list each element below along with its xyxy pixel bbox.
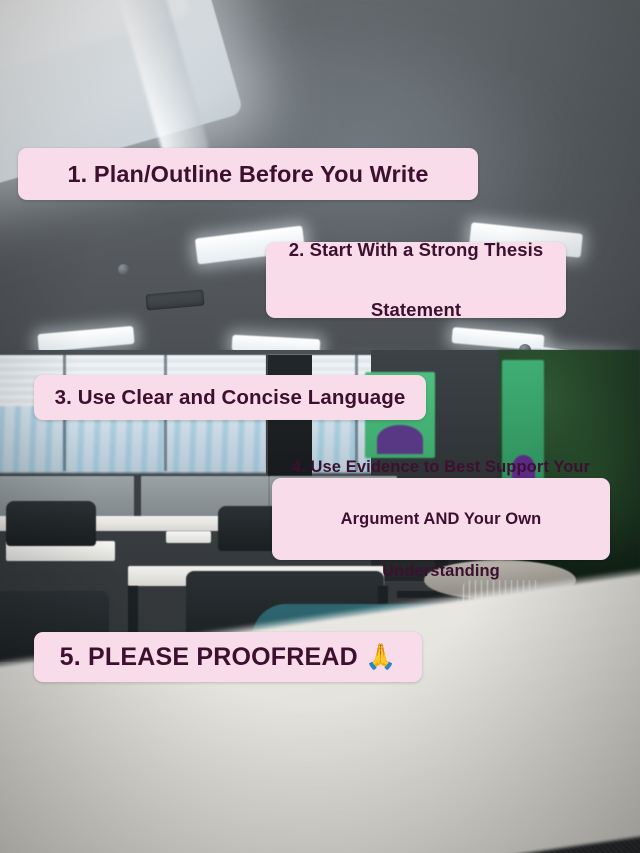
caption-box-3: 3. Use Clear and Concise Language	[34, 375, 426, 420]
caption-4-line-2: Argument AND Your Own	[272, 506, 610, 532]
caption-5-text: 5. PLEASE PROOFREAD 🙏	[34, 641, 422, 673]
caption-3-text: 3. Use Clear and Concise Language	[34, 384, 426, 412]
caption-5-label: 5. PLEASE PROOFREAD	[60, 643, 358, 671]
ceiling-smoke-detector	[118, 264, 129, 275]
caption-4-line-3: Understanding	[272, 558, 610, 584]
caption-2-text: 2. Start With a Strong Thesis Statement	[266, 205, 566, 355]
caption-box-4: 4. Use Evidence to Best Support Your Arg…	[272, 478, 610, 560]
caption-4-line-1: 4. Use Evidence to Best Support Your	[272, 454, 610, 480]
background-photo	[0, 0, 640, 853]
caption-2-line-2: Statement	[266, 295, 566, 325]
office-chair	[6, 501, 96, 546]
caption-4-text: 4. Use Evidence to Best Support Your Arg…	[272, 428, 610, 610]
power-outlet-strip	[166, 531, 211, 544]
caption-2-line-1: 2. Start With a Strong Thesis	[266, 235, 566, 265]
folded-hands-icon: 🙏	[358, 643, 396, 671]
caption-box-1: 1. Plan/Outline Before You Write	[18, 148, 478, 200]
caption-1-text: 1. Plan/Outline Before You Write	[18, 159, 478, 189]
screenshot-canvas: 1. Plan/Outline Before You Write 2. Star…	[0, 0, 640, 853]
caption-box-5: 5. PLEASE PROOFREAD 🙏	[34, 632, 422, 682]
caption-box-2: 2. Start With a Strong Thesis Statement	[266, 242, 566, 318]
